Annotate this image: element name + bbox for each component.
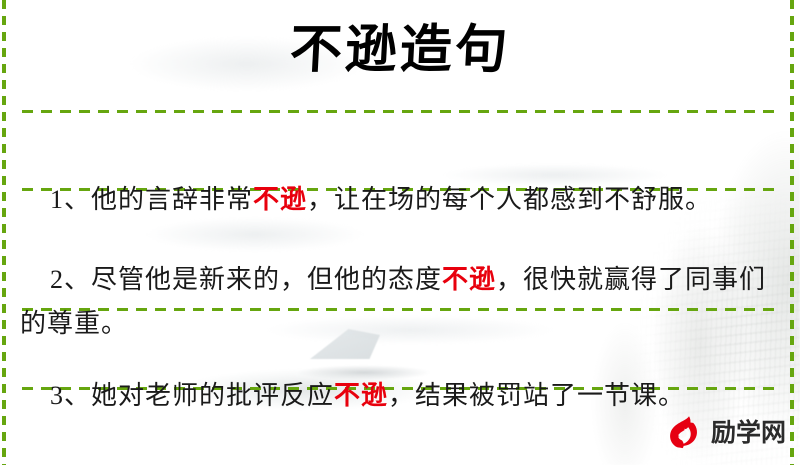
sentence-text-3a: 她对老师的批评反应 — [91, 381, 334, 410]
sentence-index-2: 2、 — [50, 265, 91, 294]
keyword-2: 不逊 — [442, 265, 496, 294]
sentence-card-page: 不逊造句 1、他的言辞非常不逊，让在场的每个人都感到不舒服。 2、尽管他是新来的… — [0, 0, 800, 465]
sentence-text-1b: ，让在场的每个人都感到不舒服。 — [307, 185, 712, 214]
sentence-text-2a: 尽管他是新来的，但他的态度 — [91, 265, 442, 294]
keyword-3: 不逊 — [334, 381, 388, 410]
sentence-text-1a: 他的言辞非常 — [91, 185, 253, 214]
site-logo[interactable]: 励学网 — [663, 412, 786, 454]
sentence-text-3b: ，结果被罚站了一节课。 — [388, 381, 685, 410]
red-swirl-flame-icon — [663, 412, 705, 454]
sentence-index-3: 3、 — [50, 381, 91, 410]
site-logo-text: 励学网 — [711, 421, 786, 446]
sentence-index-1: 1、 — [50, 185, 91, 214]
keyword-1: 不逊 — [253, 185, 307, 214]
separator-1 — [22, 110, 782, 113]
page-title: 不逊造句 — [0, 20, 800, 82]
